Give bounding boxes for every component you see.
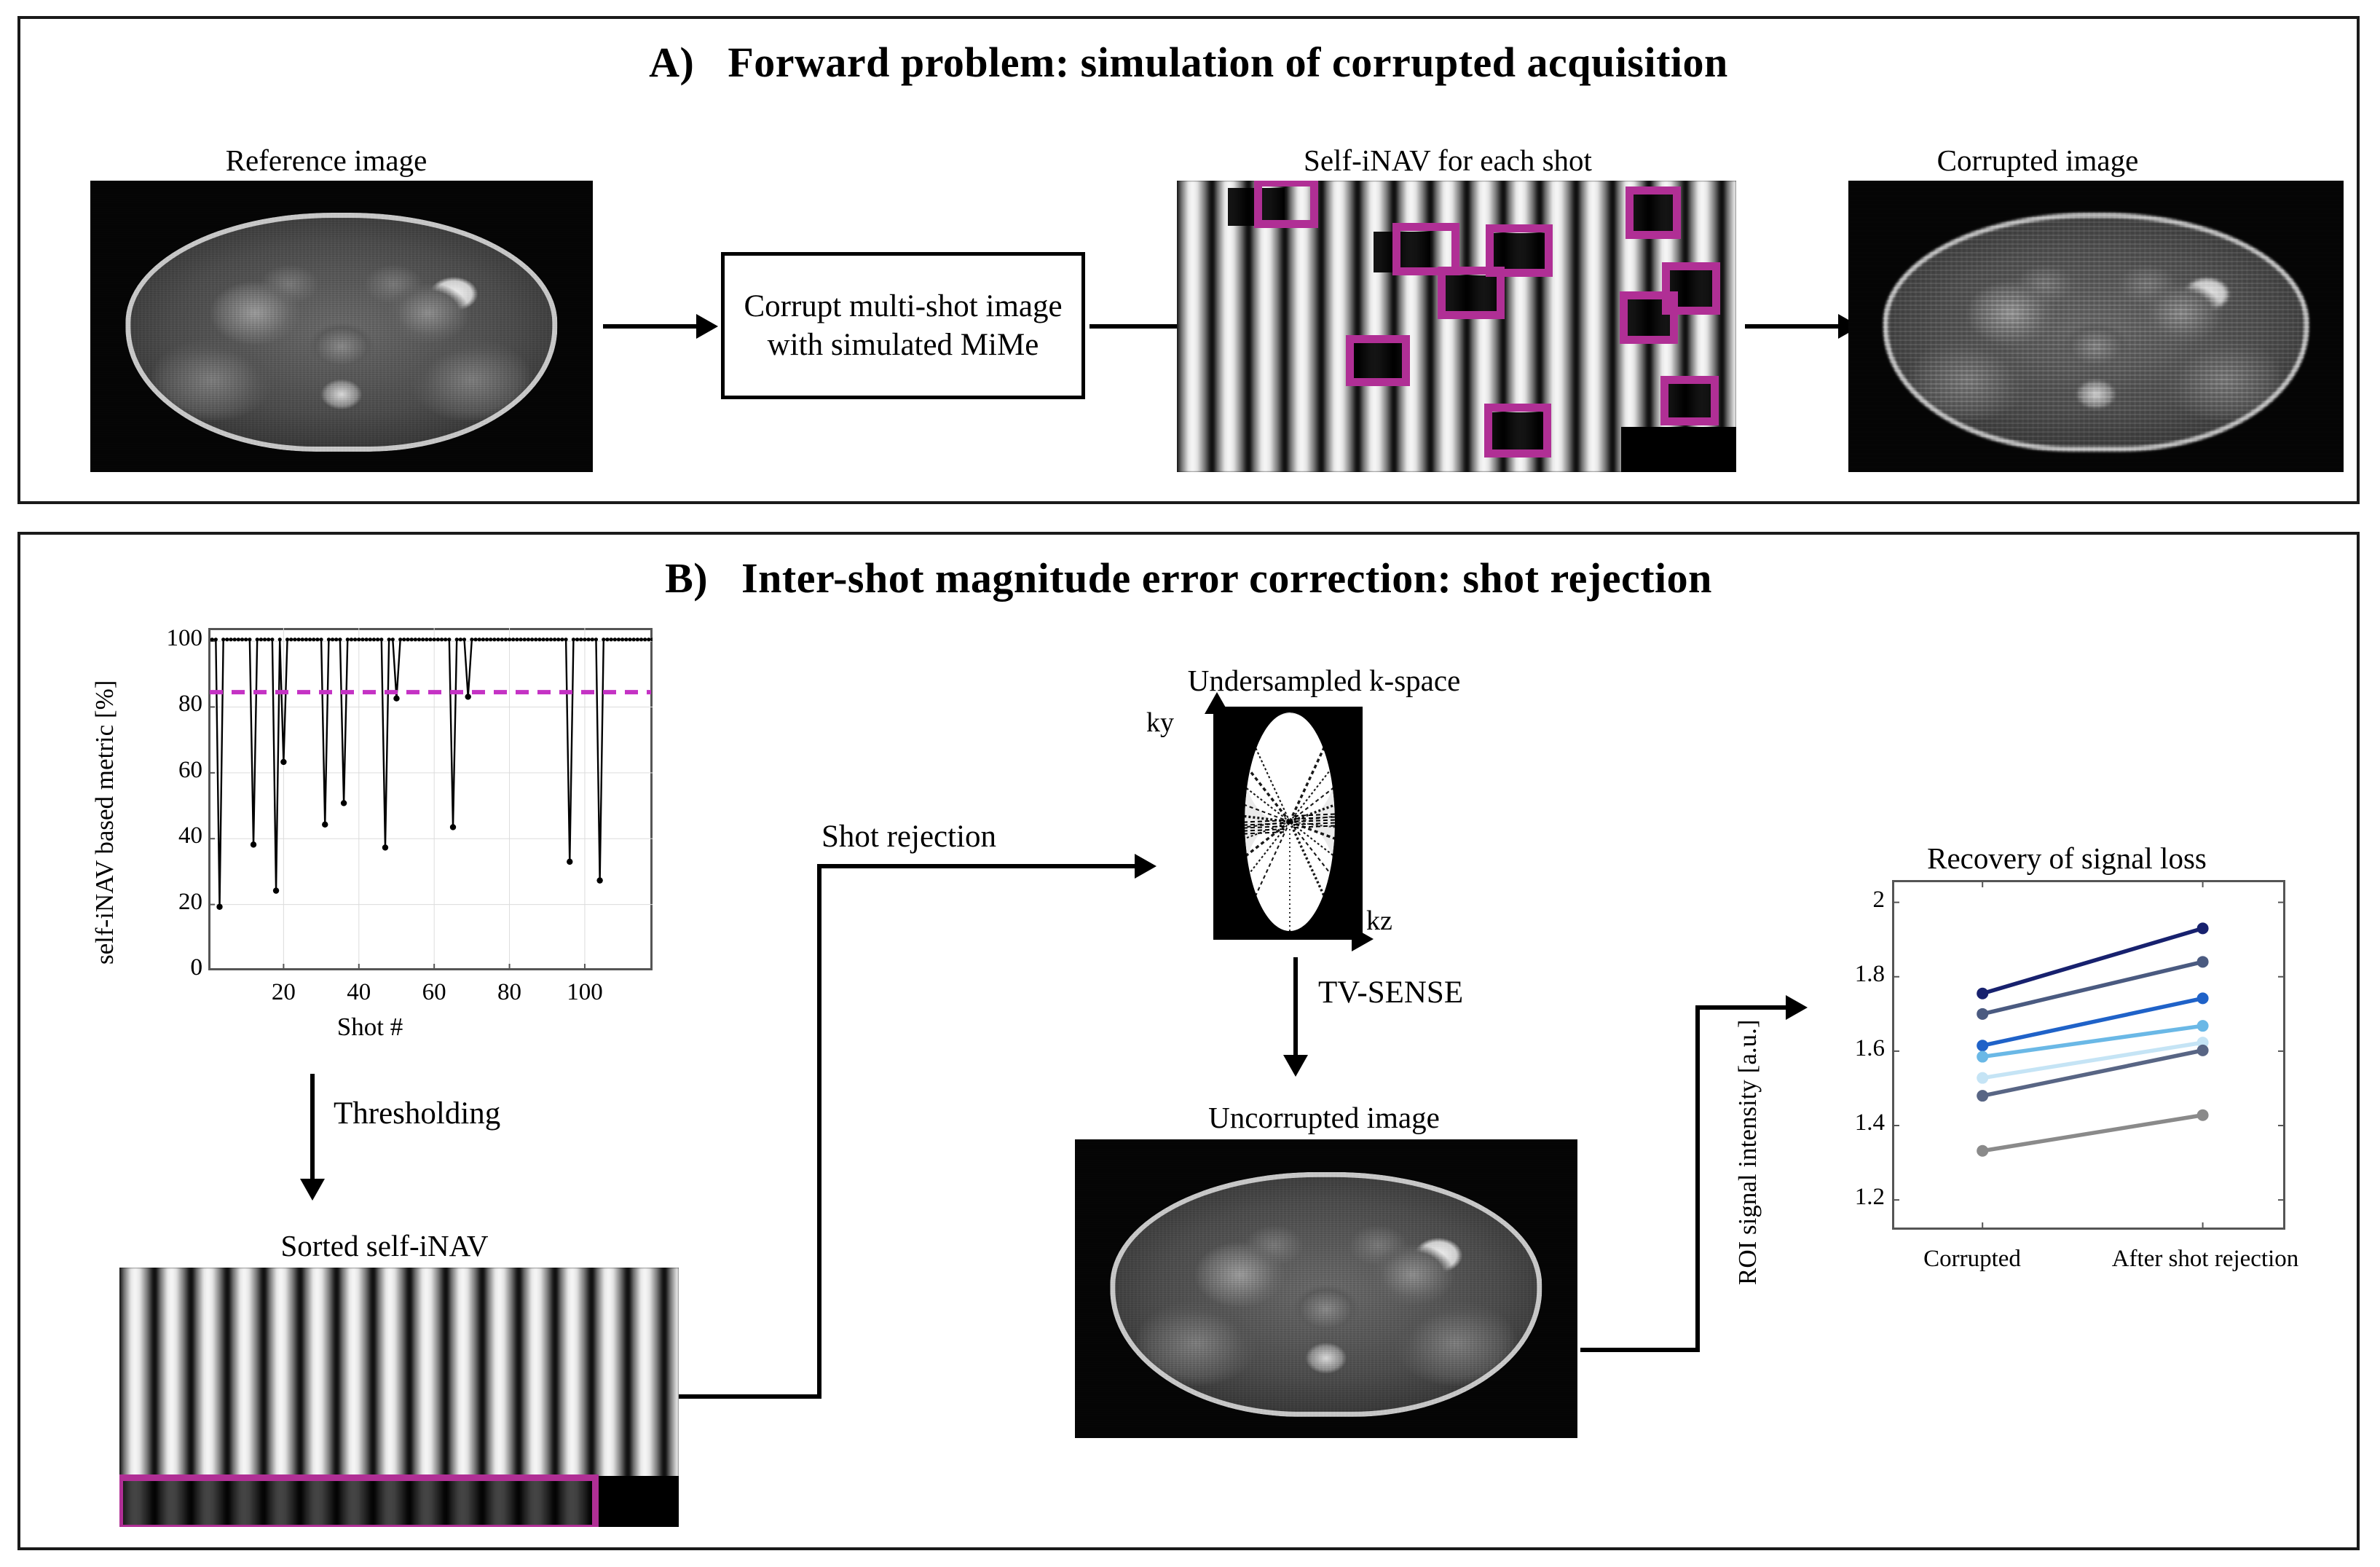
- roi-box: [1484, 404, 1551, 457]
- reference-image: [90, 181, 593, 472]
- roi-box: [1620, 291, 1678, 344]
- arrow-thresholding: [310, 1074, 315, 1183]
- corrupted-image-caption: Corrupted image: [1783, 143, 2293, 178]
- panel-a-title: A)Forward problem: simulation of corrupt…: [20, 38, 2357, 87]
- recovery-ytick-2: 2: [1790, 887, 1885, 914]
- metric-xtick-100: 100: [548, 979, 621, 1006]
- metric-ytick-40: 40: [130, 822, 202, 849]
- arrow-shot-rejection: [817, 864, 1139, 868]
- metric-ytick-60: 60: [130, 757, 202, 784]
- reference-image-caption: Reference image: [64, 143, 588, 178]
- shot-rejection-label: Shot rejection: [821, 819, 996, 855]
- sorted-empty-corner: [593, 1476, 679, 1527]
- kspace-caption: Undersampled k-space: [1025, 663, 1623, 698]
- self-inav-caption: Self-iNAV for each shot: [1156, 143, 1739, 178]
- recovery-ytick-1.2: 1.2: [1790, 1184, 1885, 1211]
- arrow-inav-to-corrupted: [1745, 324, 1840, 329]
- tv-sense-label: TV-SENSE: [1318, 975, 1463, 1010]
- recovery-ytick-1.4: 1.4: [1790, 1110, 1885, 1136]
- self-inav-montage: [1177, 181, 1736, 472]
- metric-plot-ylabel: self-iNAV based metric [%]: [90, 680, 119, 965]
- recovery-plot-ylabel: ROI signal intensity [a.u.]: [1733, 1019, 1762, 1285]
- roi-box-rejected-shots: [119, 1474, 599, 1527]
- recovery-xtick-corrupted: Corrupted: [1892, 1246, 2052, 1273]
- panel-a-tag: A): [649, 38, 694, 87]
- kspace-ky-label: ky: [1146, 707, 1174, 739]
- metric-ytick-100: 100: [130, 625, 202, 652]
- uncorrupted-image-noise: [1075, 1139, 1577, 1438]
- corrupted-image: [1848, 181, 2344, 472]
- kspace-pattern: [1217, 707, 1363, 937]
- roi-box: [1438, 267, 1505, 319]
- roi-box: [1660, 376, 1719, 425]
- figure-root: A)Forward problem: simulation of corrupt…: [0, 0, 2380, 1567]
- corrupted-image-noise: [1848, 181, 2344, 472]
- recovery-plot-title: Recovery of signal loss: [1812, 841, 2322, 876]
- arrow-tv-sense: [1293, 957, 1298, 1059]
- corrupt-process-box: Corrupt multi-shot image with simulated …: [721, 252, 1085, 399]
- recovery-plot: Recovery of signal loss ROI signal inten…: [1717, 841, 2351, 1372]
- panel-a: A)Forward problem: simulation of corrupt…: [17, 16, 2360, 504]
- uncorrupted-image-caption: Uncorrupted image: [1055, 1100, 1593, 1135]
- recovery-plot-canvas: [1892, 880, 2285, 1230]
- roi-box: [1254, 181, 1318, 228]
- panel-b-title: B)Inter-shot magnitude error correction:…: [20, 554, 2357, 602]
- arrow-process-to-inav: [1089, 324, 1184, 329]
- metric-xtick-80: 80: [473, 979, 546, 1006]
- recovery-xtick-after: After shot rejection: [2081, 1246, 2329, 1273]
- panel-b: B)Inter-shot magnitude error correction:…: [17, 532, 2360, 1550]
- arrow-ref-to-process-head: [696, 314, 718, 339]
- metric-plot-xlabel: Shot #: [337, 1013, 403, 1042]
- corrupt-process-label: Corrupt multi-shot image with simulated …: [738, 287, 1068, 365]
- roi-box: [1626, 186, 1681, 239]
- arrow-tv-sense-head: [1283, 1055, 1308, 1077]
- recovery-ytick-1.8: 1.8: [1790, 961, 1885, 988]
- arrow-ref-to-process: [603, 324, 698, 329]
- roi-box: [1346, 335, 1410, 386]
- metric-plot-canvas: [208, 628, 653, 970]
- panel-b-title-text: Inter-shot magnitude error correction: s…: [741, 554, 1712, 602]
- metric-xtick-60: 60: [398, 979, 470, 1006]
- panel-a-title-text: Forward problem: simulation of corrupted…: [728, 39, 1727, 86]
- elbow-uncorrupted-h: [1580, 1348, 1700, 1352]
- metric-ytick-0: 0: [130, 954, 202, 981]
- metric-ytick-20: 20: [130, 889, 202, 916]
- elbow-sorted-to-rejection-h: [679, 1394, 821, 1399]
- elbow-uncorrupted-v: [1695, 1005, 1700, 1352]
- reference-image-noise: [90, 181, 593, 472]
- panel-b-tag: B): [665, 554, 708, 602]
- arrow-thresholding-head: [300, 1179, 325, 1201]
- metric-xtick-40: 40: [323, 979, 395, 1006]
- metric-xtick-20: 20: [247, 979, 320, 1006]
- elbow-sorted-to-rejection-v: [817, 864, 821, 1399]
- thresholding-label: Thresholding: [334, 1096, 500, 1131]
- uncorrupted-image: [1075, 1139, 1577, 1438]
- kspace-sampling-image: [1217, 707, 1363, 937]
- sorted-self-inav-caption: Sorted self-iNAV: [108, 1228, 661, 1263]
- metric-ytick-80: 80: [130, 691, 202, 718]
- recovery-ytick-1.6: 1.6: [1790, 1035, 1885, 1062]
- self-inav-empty-corner: [1621, 427, 1736, 472]
- sorted-self-inav-montage: [119, 1268, 679, 1527]
- self-inav-metric-plot: self-iNAV based metric [%] Shot # 020406…: [86, 622, 676, 1059]
- arrow-shot-rejection-head: [1135, 854, 1156, 879]
